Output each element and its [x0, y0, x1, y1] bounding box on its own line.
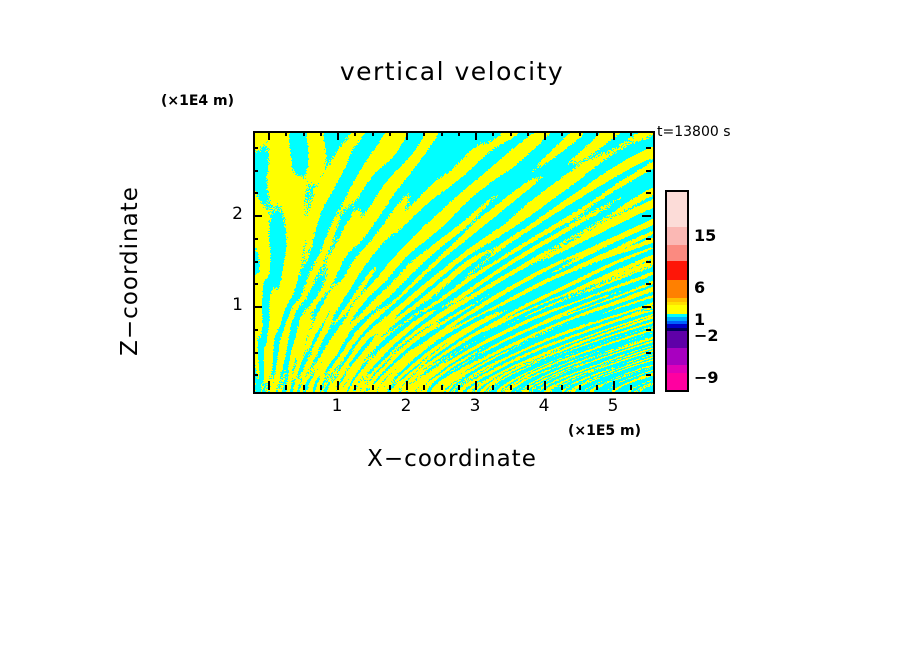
x-axis-tick [527, 131, 529, 136]
x-axis-tick [268, 381, 270, 390]
x-axis-tick [492, 131, 494, 136]
x-axis-tick [320, 385, 322, 390]
y-axis-unit-label: (×1E4 m) [161, 93, 234, 109]
x-axis-tick [285, 131, 287, 136]
time-annotation: t=13800 s [657, 124, 731, 140]
x-axis-tick [285, 385, 287, 390]
y-axis-tick [253, 306, 262, 308]
y-axis-tick [646, 192, 651, 194]
y-axis-tick [642, 215, 651, 217]
x-axis-tick [527, 385, 529, 390]
x-axis-tick [630, 131, 632, 136]
x-axis-tick [510, 385, 512, 390]
colorbar [665, 190, 689, 392]
x-axis-tick [372, 385, 374, 390]
y-axis-tick [253, 352, 258, 354]
x-tick-label: 1 [322, 396, 352, 416]
x-axis-title: X−coordinate [253, 446, 651, 472]
x-axis-tick [441, 385, 443, 390]
x-axis-tick [423, 385, 425, 390]
y-axis-tick [253, 374, 258, 376]
x-axis-tick [561, 131, 563, 136]
y-axis-tick [646, 261, 651, 263]
x-axis-tick [268, 131, 270, 140]
x-tick-label: 3 [460, 396, 490, 416]
x-axis-tick [510, 131, 512, 136]
x-axis-tick [441, 131, 443, 136]
figure-canvas: vertical velocity (×1E4 m) t=13800 s 123… [0, 0, 904, 654]
x-axis-tick [596, 131, 598, 136]
x-axis-tick [458, 131, 460, 136]
colorbar-band [667, 331, 687, 348]
colorbar-band [667, 280, 687, 298]
x-tick-label: 5 [598, 396, 628, 416]
colorbar-tick-label: −9 [694, 368, 719, 387]
y-tick-label: 2 [219, 204, 243, 224]
x-axis-tick [303, 131, 305, 136]
y-axis-tick [253, 261, 258, 263]
x-axis-tick [389, 385, 391, 390]
y-axis-tick [253, 283, 258, 285]
x-axis-tick [320, 131, 322, 136]
x-axis-tick [475, 131, 477, 140]
y-axis-tick [646, 238, 651, 240]
colorbar-band [667, 227, 687, 245]
y-axis-tick [253, 238, 258, 240]
x-axis-tick [406, 381, 408, 390]
y-axis-title: Z−coordinate [117, 121, 143, 421]
x-axis-tick [303, 385, 305, 390]
y-axis-tick [253, 170, 258, 172]
y-axis-tick [646, 283, 651, 285]
colorbar-band [667, 348, 687, 365]
colorbar-tick-label: −2 [694, 326, 719, 345]
colorbar-band [667, 373, 687, 390]
x-axis-tick [354, 385, 356, 390]
x-axis-tick [579, 131, 581, 136]
y-axis-tick [253, 192, 258, 194]
y-axis-tick [646, 374, 651, 376]
x-tick-label: 2 [391, 396, 421, 416]
colorbar-band [667, 365, 687, 373]
colorbar-tick-label: 15 [694, 226, 716, 245]
x-axis-tick [630, 385, 632, 390]
x-axis-tick [354, 131, 356, 136]
y-axis-tick [253, 147, 258, 149]
x-axis-tick [561, 385, 563, 390]
colorbar-band [667, 192, 687, 227]
y-axis-tick [646, 170, 651, 172]
x-axis-tick [372, 131, 374, 136]
x-axis-tick [544, 131, 546, 140]
y-axis-tick [253, 215, 262, 217]
colorbar-band [667, 261, 687, 280]
y-axis-tick [646, 147, 651, 149]
x-axis-tick [475, 381, 477, 390]
x-axis-tick [389, 131, 391, 136]
x-axis-tick [613, 381, 615, 390]
x-axis-tick [458, 385, 460, 390]
y-axis-tick [642, 306, 651, 308]
x-axis-tick [579, 385, 581, 390]
x-axis-tick [406, 131, 408, 140]
plot-area [253, 131, 655, 394]
x-axis-tick [492, 385, 494, 390]
y-axis-tick [253, 329, 258, 331]
x-axis-tick [544, 381, 546, 390]
y-axis-tick [646, 352, 651, 354]
vertical-velocity-field [255, 133, 653, 392]
x-axis-tick [337, 131, 339, 140]
y-tick-label: 1 [219, 295, 243, 315]
x-tick-label: 4 [529, 396, 559, 416]
colorbar-tick-label: 6 [694, 278, 705, 297]
y-axis-tick [646, 329, 651, 331]
x-axis-tick [613, 131, 615, 140]
x-axis-tick [423, 131, 425, 136]
x-axis-tick [596, 385, 598, 390]
x-axis-unit-label: (×1E5 m) [568, 423, 641, 439]
colorbar-band [667, 245, 687, 262]
page-title: vertical velocity [253, 57, 651, 86]
x-axis-tick [337, 381, 339, 390]
